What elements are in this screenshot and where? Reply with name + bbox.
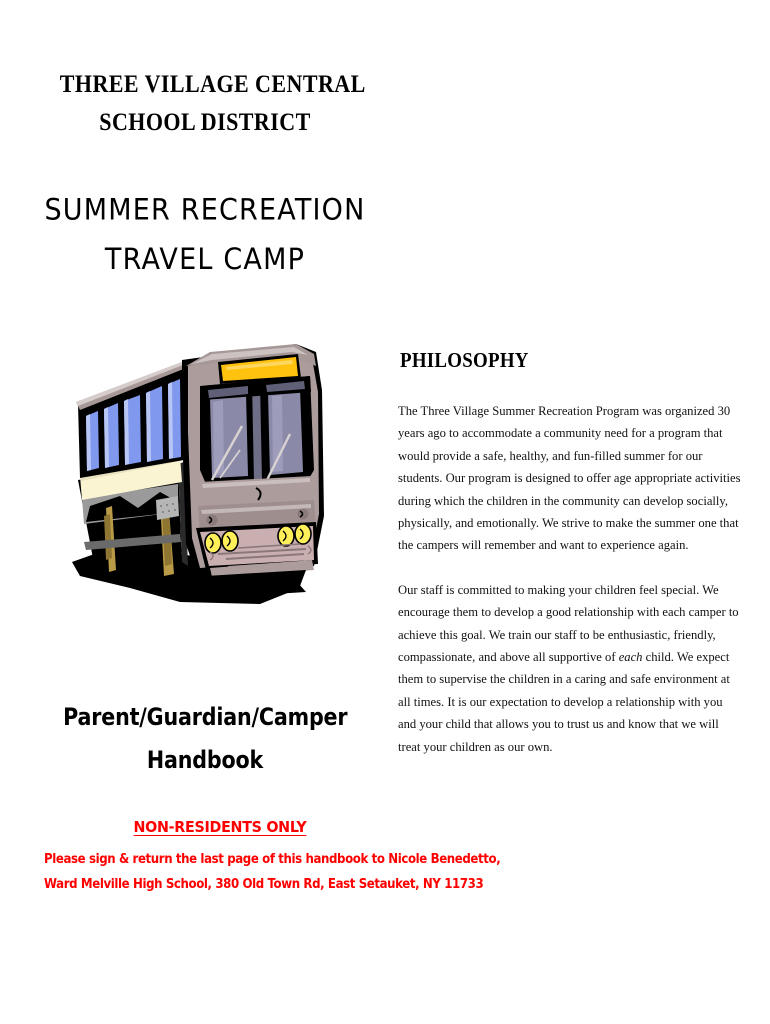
notice-line-2: Ward Melville High School, 380 Old Town … (44, 872, 396, 897)
district-title-line-1: THREE VILLAGE CENTRAL (60, 71, 366, 98)
camp-title-line-1: SUMMER RECREATION (44, 194, 365, 227)
notice-line-1: Please sign & return the last page of th… (44, 847, 396, 872)
non-residents-heading: NON-RESIDENTS ONLY (36, 818, 404, 836)
philosophy-paragraph-2: Our staff is committed to making your ch… (398, 579, 743, 758)
philosophy-body: The Three Village Summer Recreation Prog… (398, 400, 743, 758)
district-title-line-2: SCHOOL DISTRICT (60, 104, 350, 142)
philosophy-paragraph-2-part-2: child. We expect them to supervise the c… (398, 650, 730, 754)
handbook-title-line-1: Parent/Guardian/Camper (63, 703, 347, 731)
non-residents-notice: NON-RESIDENTS ONLY Please sign & return … (20, 818, 420, 897)
handbook-title: Parent/Guardian/Camper Handbook (63, 696, 347, 782)
handbook-cover-page: THREE VILLAGE CENTRAL SCHOOL DISTRICT SU… (0, 0, 770, 1024)
district-title: THREE VILLAGE CENTRAL SCHOOL DISTRICT (60, 66, 350, 142)
philosophy-heading: PHILOSOPHY (400, 348, 529, 373)
philosophy-paragraph-2-emphasis: each (619, 650, 643, 664)
tour-bus-illustration (60, 330, 360, 622)
camp-title: SUMMER RECREATION TRAVEL CAMP (40, 186, 370, 285)
tour-bus-icon (60, 330, 360, 622)
philosophy-paragraph-1: The Three Village Summer Recreation Prog… (398, 400, 743, 557)
camp-title-line-2: TRAVEL CAMP (40, 236, 370, 286)
handbook-title-line-2: Handbook (63, 739, 347, 782)
